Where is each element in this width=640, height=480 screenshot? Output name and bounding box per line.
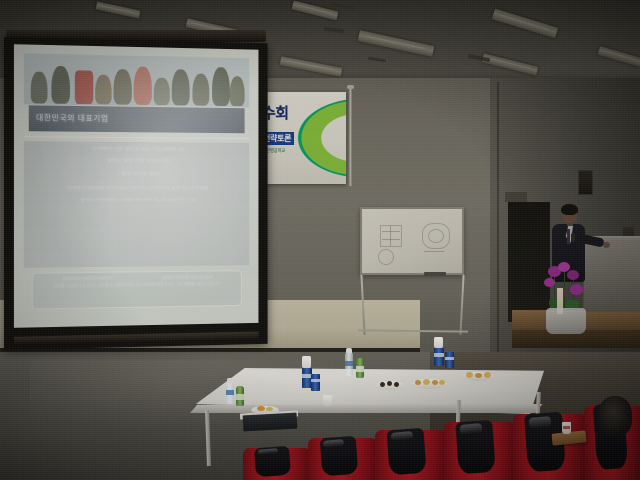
wall-speaker-icon <box>578 170 593 195</box>
green-bottle <box>356 358 364 378</box>
banner-pole-cap <box>347 85 354 89</box>
ceiling-vent <box>368 57 386 63</box>
auditorium-seat[interactable] <box>308 438 378 480</box>
paper-cup <box>562 422 571 434</box>
seat-highlight <box>529 416 552 429</box>
projection-screen: 대한민국의 대표기업 한국에서 가장 일하고 싶은 기업 BEST 30 일하고… <box>4 37 268 350</box>
ceiling-light-fixture <box>492 9 558 39</box>
snack-plate <box>411 379 447 389</box>
document-folder <box>243 413 298 432</box>
presenter-hand <box>603 242 610 248</box>
ceiling-light-fixture <box>358 30 435 57</box>
ceiling-light-fixture <box>96 2 141 19</box>
presentation-slide: 대한민국의 대표기업 한국에서 가장 일하고 싶은 기업 BEST 30 일하고… <box>14 44 259 328</box>
slide-bullet: 체계적 인재관리와 창의적이고 개방적인 조직문화를 통해 개인의 역량을 <box>28 186 245 191</box>
banner-swoosh-graphic <box>294 96 346 180</box>
whiteboard-marker-tray <box>424 272 446 276</box>
ceiling-light-fixture <box>482 53 539 75</box>
snack-plate <box>462 372 494 381</box>
auditorium-seat[interactable] <box>444 422 516 480</box>
green-bottle <box>236 386 244 406</box>
whiteboard <box>360 207 464 275</box>
auditorium-seat[interactable] <box>243 448 311 480</box>
lecture-hall-photo: 수회 전략토론 한영공학교 <box>0 0 640 480</box>
event-banner: 수회 전략토론 한영공학교 <box>256 92 346 184</box>
ceiling-light-fixture <box>280 56 343 77</box>
slide-note-box: 창의적이고 개방적인 조직문화 잠재력 극대화를 위한 자기능력 이러한 기업들… <box>32 270 242 309</box>
slide-note-question: 이러한 기업들이 요구하는 우리들의 덕목은 어떤 것이 되어야 하며 우리는 … <box>37 281 238 289</box>
ceiling-light-fixture <box>598 46 640 67</box>
canned-drink <box>311 374 320 391</box>
auditorium-seat[interactable] <box>375 430 447 480</box>
slide-photo-strip <box>24 53 249 107</box>
snack-plate <box>376 381 404 390</box>
slide-bullet: 높이고, 자아실현의 기회를 제공하는 최고의 대한민국 기업 <box>28 198 245 203</box>
slide-bullet: 한국에서 가장 일하고 싶은 기업 BEST 30 <box>28 146 245 153</box>
audience-head <box>598 396 632 436</box>
ceiling-vent <box>330 2 354 10</box>
banner-pole <box>349 88 352 186</box>
slide-note-left: 창의적이고 개방적인 조직문화 <box>62 275 113 281</box>
microphone-icon <box>571 233 575 242</box>
canned-drink <box>434 348 444 366</box>
wall-seam <box>497 82 499 360</box>
slide-body: 한국에서 가장 일하고 싶은 기업 BEST 30 일하고 싶은 기업 선호도 … <box>24 141 249 268</box>
water-bottle <box>345 352 353 376</box>
water-bottle <box>226 382 234 404</box>
paper-cup <box>323 395 332 406</box>
slide-note-right: 잠재력 극대화를 위한 자기능력 <box>163 274 213 280</box>
auditorium-seat[interactable] <box>513 414 587 480</box>
slide-title: 대한민국의 대표기업 <box>29 113 108 125</box>
slide-bullet: 일하고 싶은 기업 선호도 1위 <box>28 158 245 165</box>
slide-title-bar: 대한민국의 대표기업 <box>29 105 244 132</box>
presenter-tie <box>567 229 570 244</box>
flower-wrap <box>546 308 586 334</box>
screen-bottom-bar <box>14 332 259 346</box>
ceiling-vent <box>324 26 344 33</box>
screen-surface: 대한민국의 대표기업 한국에서 가장 일하고 싶은 기업 BEST 30 일하고… <box>14 44 259 328</box>
canned-drink <box>445 352 454 368</box>
banner-org-name: 한영공학교 <box>266 148 285 154</box>
presenter-hair <box>561 204 578 215</box>
side-wall-panel <box>505 192 527 202</box>
slide-divider <box>24 136 249 139</box>
flower-arrangement <box>540 262 592 334</box>
slide-bullet: - 삼성 스크린 광고 <box>28 171 245 177</box>
